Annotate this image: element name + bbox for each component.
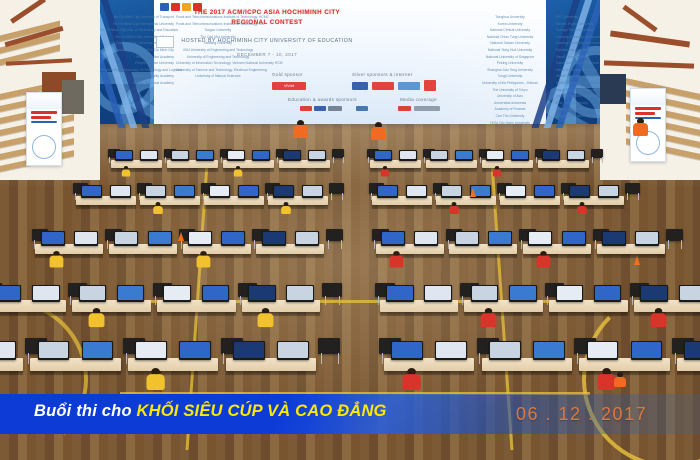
monitor-screen (487, 151, 503, 159)
contestant-monitor (110, 185, 131, 198)
university-name: National Chiao Tung University (470, 34, 550, 41)
monitor-screen (400, 151, 416, 159)
contestant-torso (389, 256, 403, 268)
contestant-torso (49, 256, 63, 268)
monitor-screen (203, 286, 229, 300)
backdrop-title-line1: THE 2017 ACM/ICPC ASIA HOCHIMINH CITY (152, 8, 382, 18)
monitor-screen (118, 286, 144, 300)
monitor-screen (33, 286, 59, 300)
monitor-screen (83, 342, 113, 359)
monitor-screen (456, 232, 478, 244)
monitor-screen (309, 151, 325, 159)
monitor-screen (82, 186, 101, 196)
monitor-screen (570, 186, 589, 196)
contestant-torso (381, 169, 389, 176)
contestant-monitor (377, 185, 398, 198)
contestant-torso (449, 206, 459, 214)
contestant-monitor (430, 150, 448, 161)
monitor-screen (375, 151, 391, 159)
caption-text: Buổi thi cho KHỐI SIÊU CÚP VÀ CAO ĐẲNG (34, 402, 387, 421)
university-name: Shanghai Jiao Tong University (470, 67, 550, 74)
contestant-monitor (227, 150, 245, 161)
monitor-screen (146, 186, 165, 196)
university-name: University of Aizu (470, 93, 550, 100)
monitor-screen (506, 186, 525, 196)
contestant-monitor (221, 231, 245, 246)
monitor-screen (392, 342, 422, 359)
university-name: Tongji University (470, 73, 550, 80)
contestant-monitor (273, 185, 294, 198)
monitor-screen (136, 342, 166, 359)
contestant-monitor (455, 150, 473, 161)
monitor-screen (42, 232, 64, 244)
contestant-monitor (308, 150, 326, 161)
contestant-monitor (38, 341, 70, 361)
contestant-monitor (248, 285, 276, 302)
university-name: People's Security Academy (100, 73, 174, 80)
contestant-desk (538, 160, 590, 168)
monitor-screen (535, 186, 554, 196)
chair (322, 283, 341, 297)
university-name: Korea University (470, 21, 550, 28)
monitor-screen (75, 232, 97, 244)
contestant-torso (122, 169, 130, 176)
sponsor-logo-viviet: ViViet (272, 82, 306, 90)
university-name: University of Science and Technology, El… (176, 67, 260, 74)
contestant-desk (167, 160, 219, 168)
university-name: Academy of Finance (470, 106, 550, 113)
monitor-screen (382, 232, 404, 244)
monitor-screen (263, 232, 285, 244)
contestant-monitor (41, 231, 65, 246)
contestant-monitor (374, 150, 392, 161)
chair-legs (627, 193, 639, 200)
monitor-screen (557, 286, 583, 300)
media-coverage-label: Media coverage (400, 97, 437, 102)
contestant-monitor (386, 285, 414, 302)
caption-text-white: Buổi thi cho (34, 402, 137, 420)
contestant-torso (234, 169, 242, 176)
contestant-monitor (488, 231, 512, 246)
contestant-monitor (381, 231, 405, 246)
silver-sponsor-label: Silver sponsors & internet (352, 72, 412, 77)
contestant-monitor (569, 185, 590, 198)
monitor-screen (287, 286, 313, 300)
contestant-monitor (82, 341, 114, 361)
monitor-screen (239, 186, 258, 196)
university-name: University of Natural Sciences (176, 73, 260, 80)
monitor-screen (436, 342, 466, 359)
contestant-monitor (171, 150, 189, 161)
university-name: Saigon University (176, 27, 260, 34)
contestant-torso (493, 169, 501, 176)
sponsor-logo-tlc (300, 106, 312, 111)
gold-sponsor-label: Gold sponsor (272, 72, 303, 77)
sponsor-logo-nh (314, 106, 326, 111)
monitor-screen (636, 232, 658, 244)
contestant-desk (223, 160, 275, 168)
monitor-screen (595, 286, 621, 300)
contestant-monitor (252, 150, 270, 161)
university-list-right-c: Tsinghua UniversityKorea UniversityNatio… (470, 14, 550, 126)
sponsor-logo-tma (356, 106, 368, 111)
monitor-screen (296, 232, 318, 244)
caption-text-yellow: KHỐI SIÊU CÚP VÀ CAO ĐẲNG (137, 402, 387, 420)
monitor-screen (685, 342, 700, 359)
contestant-torso (597, 374, 615, 390)
contestant-monitor (140, 150, 158, 161)
backdrop-title: THE 2017 ACM/ICPC ASIA HOCHIMINH CITY RE… (152, 8, 382, 28)
university-name: Universitas Indonesia (470, 100, 550, 107)
contestant-monitor (0, 341, 16, 361)
contestant-monitor (179, 341, 211, 361)
contestant-monitor (679, 285, 700, 302)
monitor-screen (116, 151, 132, 159)
contestant-monitor (188, 231, 212, 246)
contestant-monitor (528, 231, 552, 246)
monitor-screen (189, 232, 211, 244)
university-name: Tsinghua University (470, 14, 550, 21)
contestant-monitor (455, 231, 479, 246)
monitor-screen (149, 232, 171, 244)
monitor-screen (442, 186, 461, 196)
monitor-screen (228, 151, 244, 159)
monitor-screen (490, 342, 520, 359)
contestant-desk (111, 160, 163, 168)
monitor-screen (39, 342, 69, 359)
contestant-monitor (602, 231, 626, 246)
contestant-monitor (471, 285, 499, 302)
monitor-screen (284, 151, 300, 159)
monitor-screen (425, 286, 451, 300)
contestant-monitor (640, 285, 668, 302)
contestant-monitor (509, 285, 537, 302)
monitor-screen (603, 232, 625, 244)
contestant-torso (536, 256, 550, 268)
university-name: University of Information Technology, Vi… (176, 60, 260, 67)
monitor-screen (378, 186, 397, 196)
university-name: National University of Singapore (470, 54, 550, 61)
contestant-monitor (562, 231, 586, 246)
contestant-monitor (684, 341, 700, 361)
contestant-monitor (567, 150, 585, 161)
contestant-desk (279, 160, 331, 168)
monitor-screen (512, 151, 528, 159)
university-name: Can Tho University (470, 113, 550, 120)
camera-timestamp: 06 . 12 . 2017 (516, 404, 647, 425)
monitor-screen (234, 342, 264, 359)
contestant-monitor (635, 231, 659, 246)
contestant-torso (402, 374, 420, 390)
contestant-monitor (148, 231, 172, 246)
contestant-monitor (406, 185, 427, 198)
contestant-monitor (117, 285, 145, 302)
contestant-monitor (174, 185, 195, 198)
monitor-screen (543, 151, 559, 159)
chair-legs (325, 296, 341, 306)
contestant-monitor (594, 285, 622, 302)
chair-legs (328, 240, 342, 248)
monitor-screen (197, 151, 213, 159)
university-name: University of the Philippines - Diliman (470, 80, 550, 87)
contestant-monitor (202, 285, 230, 302)
monitor-screen (303, 186, 322, 196)
monitor-screen (278, 342, 308, 359)
sponsor-logo-garena (372, 82, 394, 90)
contestant-monitor (441, 185, 462, 198)
monitor-screen (274, 186, 293, 196)
monitor-screen (431, 151, 447, 159)
contestant-torso (650, 314, 666, 328)
monitor-screen (172, 151, 188, 159)
contestant-monitor (505, 185, 526, 198)
contestant-torso (257, 314, 273, 328)
contestant-torso (577, 206, 587, 214)
contestant-monitor (209, 185, 230, 198)
university-name: National Tsing Hua University (470, 47, 550, 54)
chair-legs (321, 353, 339, 364)
monitor-screen (641, 286, 667, 300)
monitor-screen (210, 186, 229, 196)
sponsor-logo-vng (424, 80, 436, 91)
monitor-screen (534, 342, 564, 359)
university-name: HCM City Open University (470, 120, 550, 127)
monitor-screen (563, 232, 585, 244)
sponsor-logo-vnpt (352, 82, 368, 90)
contestant-monitor (286, 285, 314, 302)
monitor-screen (180, 342, 210, 359)
contestant-torso (88, 314, 104, 328)
monitor-screen (489, 232, 511, 244)
chair-legs (668, 240, 682, 248)
contestant-monitor (238, 185, 259, 198)
contestant-monitor (598, 185, 619, 198)
sponsor-logo-vnpt-2 (328, 106, 342, 111)
media-logo-phpgiaovat (414, 106, 440, 111)
contestant-monitor (302, 185, 323, 198)
backdrop-host-line: HOSTED BY HOCHIMINH CITY UNIVERSITY OF E… (152, 38, 382, 44)
monitor-screen (115, 232, 137, 244)
monitor-screen (249, 286, 275, 300)
contestant-torso (153, 206, 163, 214)
university-name: The University of Tokyo (470, 87, 550, 94)
contestant-monitor (399, 150, 417, 161)
contestant-monitor (295, 231, 319, 246)
monitor-screen (387, 286, 413, 300)
contestant-monitor (533, 341, 565, 361)
contestant-monitor (587, 341, 619, 361)
monitor-screen (0, 286, 20, 300)
awards-sponsor-label: Education & awards sponsors (288, 97, 357, 102)
chair-legs (331, 193, 343, 200)
monitor-screen (111, 186, 130, 196)
monitor-screen (529, 232, 551, 244)
contestant-desk (426, 160, 478, 168)
monitor-screen (472, 286, 498, 300)
media-logo-vtv (398, 106, 411, 111)
contestant-monitor (556, 285, 584, 302)
contestant-monitor (542, 150, 560, 161)
contestant-monitor (115, 150, 133, 161)
monitor-screen (164, 286, 190, 300)
contestant-monitor (414, 231, 438, 246)
backdrop-title-line2: REGIONAL CONTEST (152, 18, 382, 28)
chair-legs (333, 157, 344, 163)
monitor-screen (407, 186, 426, 196)
monitor-screen (680, 286, 700, 300)
monitor-screen (141, 151, 157, 159)
contestant-monitor (283, 150, 301, 161)
contestant-monitor (135, 341, 167, 361)
monitor-screen (175, 186, 194, 196)
contestant-monitor (74, 231, 98, 246)
backdrop-date-line: DECEMBER 7 - 10, 2017 (152, 52, 382, 57)
contestant-monitor (486, 150, 504, 161)
contestant-monitor (277, 341, 309, 361)
university-name: People's Police University Of Technology… (100, 67, 174, 74)
contestant-monitor (145, 185, 166, 198)
contestant-monitor (262, 231, 286, 246)
contestant-desk (482, 160, 534, 168)
monitor-screen (632, 342, 662, 359)
contestant-desk (370, 160, 422, 168)
screenshot-root: Ho Chi Minh City University of Transport… (0, 0, 700, 460)
university-name: People's Police University (100, 60, 174, 67)
monitor-screen (456, 151, 472, 159)
vertical-banner-left (26, 92, 62, 166)
contestant-monitor (0, 285, 21, 302)
university-name: Military Technical Academy (100, 80, 174, 87)
traffic-cone-right (634, 256, 640, 265)
contestant-torso (196, 256, 210, 268)
contestant-monitor (534, 185, 555, 198)
contestant-torso (281, 206, 291, 214)
monitor-screen (222, 232, 244, 244)
chair (318, 338, 340, 354)
contestant-monitor (435, 341, 467, 361)
monitor-screen (415, 232, 437, 244)
traffic-cone-left (178, 232, 184, 241)
contestant-monitor (424, 285, 452, 302)
contestant-monitor (391, 341, 423, 361)
contestant-monitor (631, 341, 663, 361)
contestant-monitor (81, 185, 102, 198)
contestant-torso (146, 374, 164, 390)
contestant-monitor (114, 231, 138, 246)
contestant-monitor (32, 285, 60, 302)
contestant-monitor (511, 150, 529, 161)
university-name: Ho Chi Minh City Univ. of Technology and… (100, 27, 174, 34)
contestant-torso (480, 314, 496, 328)
monitor-screen (0, 342, 15, 359)
monitor-screen (588, 342, 618, 359)
contestant-monitor (196, 150, 214, 161)
university-name: National Central University (470, 27, 550, 34)
university-name: National Taiwan University (470, 40, 550, 47)
traffic-cone-center (470, 188, 476, 197)
contestant-monitor (79, 285, 107, 302)
sponsor-logo-fpt (398, 82, 420, 90)
monitor-screen (253, 151, 269, 159)
monitor-screen (510, 286, 536, 300)
monitor-screen (568, 151, 584, 159)
contestant-monitor (233, 341, 265, 361)
chair-legs (592, 157, 603, 163)
university-name: Peking University (470, 60, 550, 67)
monitor-screen (80, 286, 106, 300)
contestant-monitor (163, 285, 191, 302)
contestant-monitor (489, 341, 521, 361)
monitor-screen (599, 186, 618, 196)
